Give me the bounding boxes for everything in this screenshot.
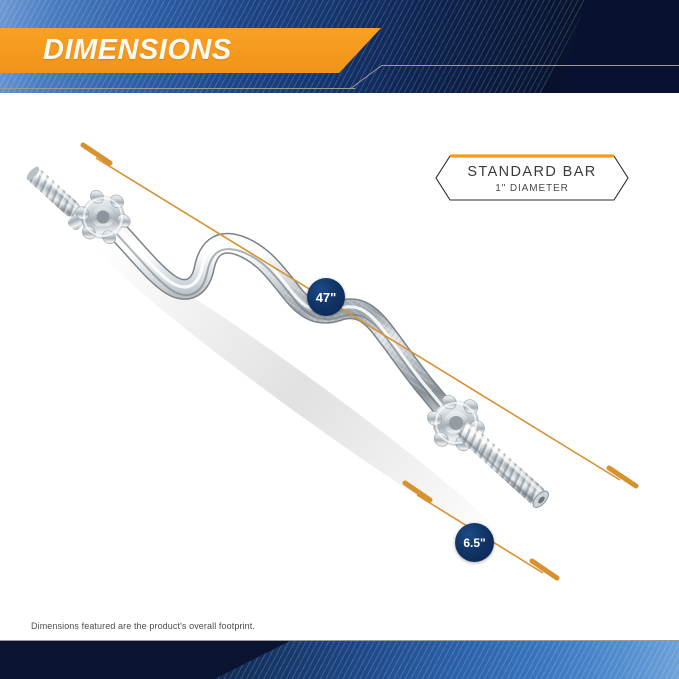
callout-standard-bar: STANDARD BAR 1" DIAMETER <box>434 152 630 204</box>
dimension-badge-length: 47" <box>307 278 345 316</box>
header-band: DIMENSIONS <box>0 0 679 93</box>
frame-line-right <box>381 65 679 66</box>
frame-diagonal-connector <box>350 66 390 90</box>
frame-line-left <box>0 88 355 89</box>
footer-band <box>0 641 679 679</box>
callout-title: STANDARD BAR <box>467 164 596 180</box>
title-banner: DIMENSIONS <box>0 28 381 73</box>
page-title: DIMENSIONS <box>43 34 232 67</box>
footnote-text: Dimensions featured are the product's ov… <box>31 621 255 631</box>
dimensions-infographic: DIMENSIONS <box>0 0 679 679</box>
callout-subtitle: 1" DIAMETER <box>495 183 568 194</box>
dimension-badge-sleeve: 6.5" <box>455 523 494 562</box>
